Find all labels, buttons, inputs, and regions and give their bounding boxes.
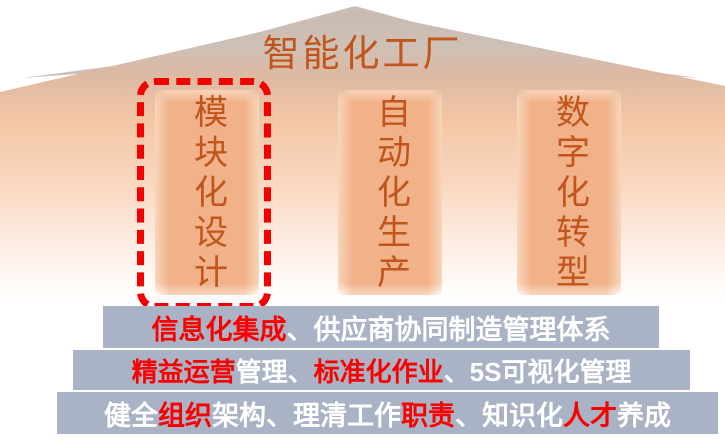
bar-text-segment: 信息化集成 — [152, 315, 287, 345]
foundation-bar-lean-operations: 精益运营管理、标准化作业、5S可视化管理 — [73, 350, 690, 390]
bar-text-segment: 职责 — [401, 401, 455, 431]
bar-text-segment: 组织 — [158, 401, 212, 431]
bar-text-segment: 管理、 — [236, 357, 314, 387]
pillar-label: 自动化生产 — [370, 90, 411, 294]
pillar-digital-transformation[interactable]: 数字化转型 — [517, 90, 621, 295]
bar-text-segment: 、5S可视化管理 — [444, 357, 632, 387]
foundation-bar-information-integration: 信息化集成、供应商协同制造管理体系 — [103, 306, 659, 348]
bar-text-segment: 、供应商协同制造管理体系 — [287, 315, 611, 345]
pillar-automated-production[interactable]: 自动化生产 — [338, 90, 442, 295]
bar-text-segment: 人才 — [563, 401, 617, 431]
red-dashed-highlight-box — [137, 78, 271, 310]
bar-text-segment: 架构、理清工作 — [212, 401, 401, 431]
page-title: 智能化工厂 — [0, 33, 725, 77]
bar-text-segment: 健全 — [104, 401, 158, 431]
foundation-bar-organization: 健全组织架构、理清工作职责、知识化人才养成 — [57, 392, 718, 434]
bar-segments: 精益运营管理、标准化作业、5S可视化管理 — [132, 352, 632, 389]
bar-segments: 信息化集成、供应商协同制造管理体系 — [152, 308, 611, 347]
bar-text-segment: 养成 — [617, 401, 671, 431]
bar-segments: 健全组织架构、理清工作职责、知识化人才养成 — [104, 394, 671, 433]
bar-text-segment: 标准化作业 — [314, 357, 444, 387]
bar-text-segment: 精益运营 — [132, 357, 236, 387]
bar-text-segment: 、知识化 — [455, 401, 563, 431]
pillar-label: 数字化转型 — [549, 90, 590, 294]
